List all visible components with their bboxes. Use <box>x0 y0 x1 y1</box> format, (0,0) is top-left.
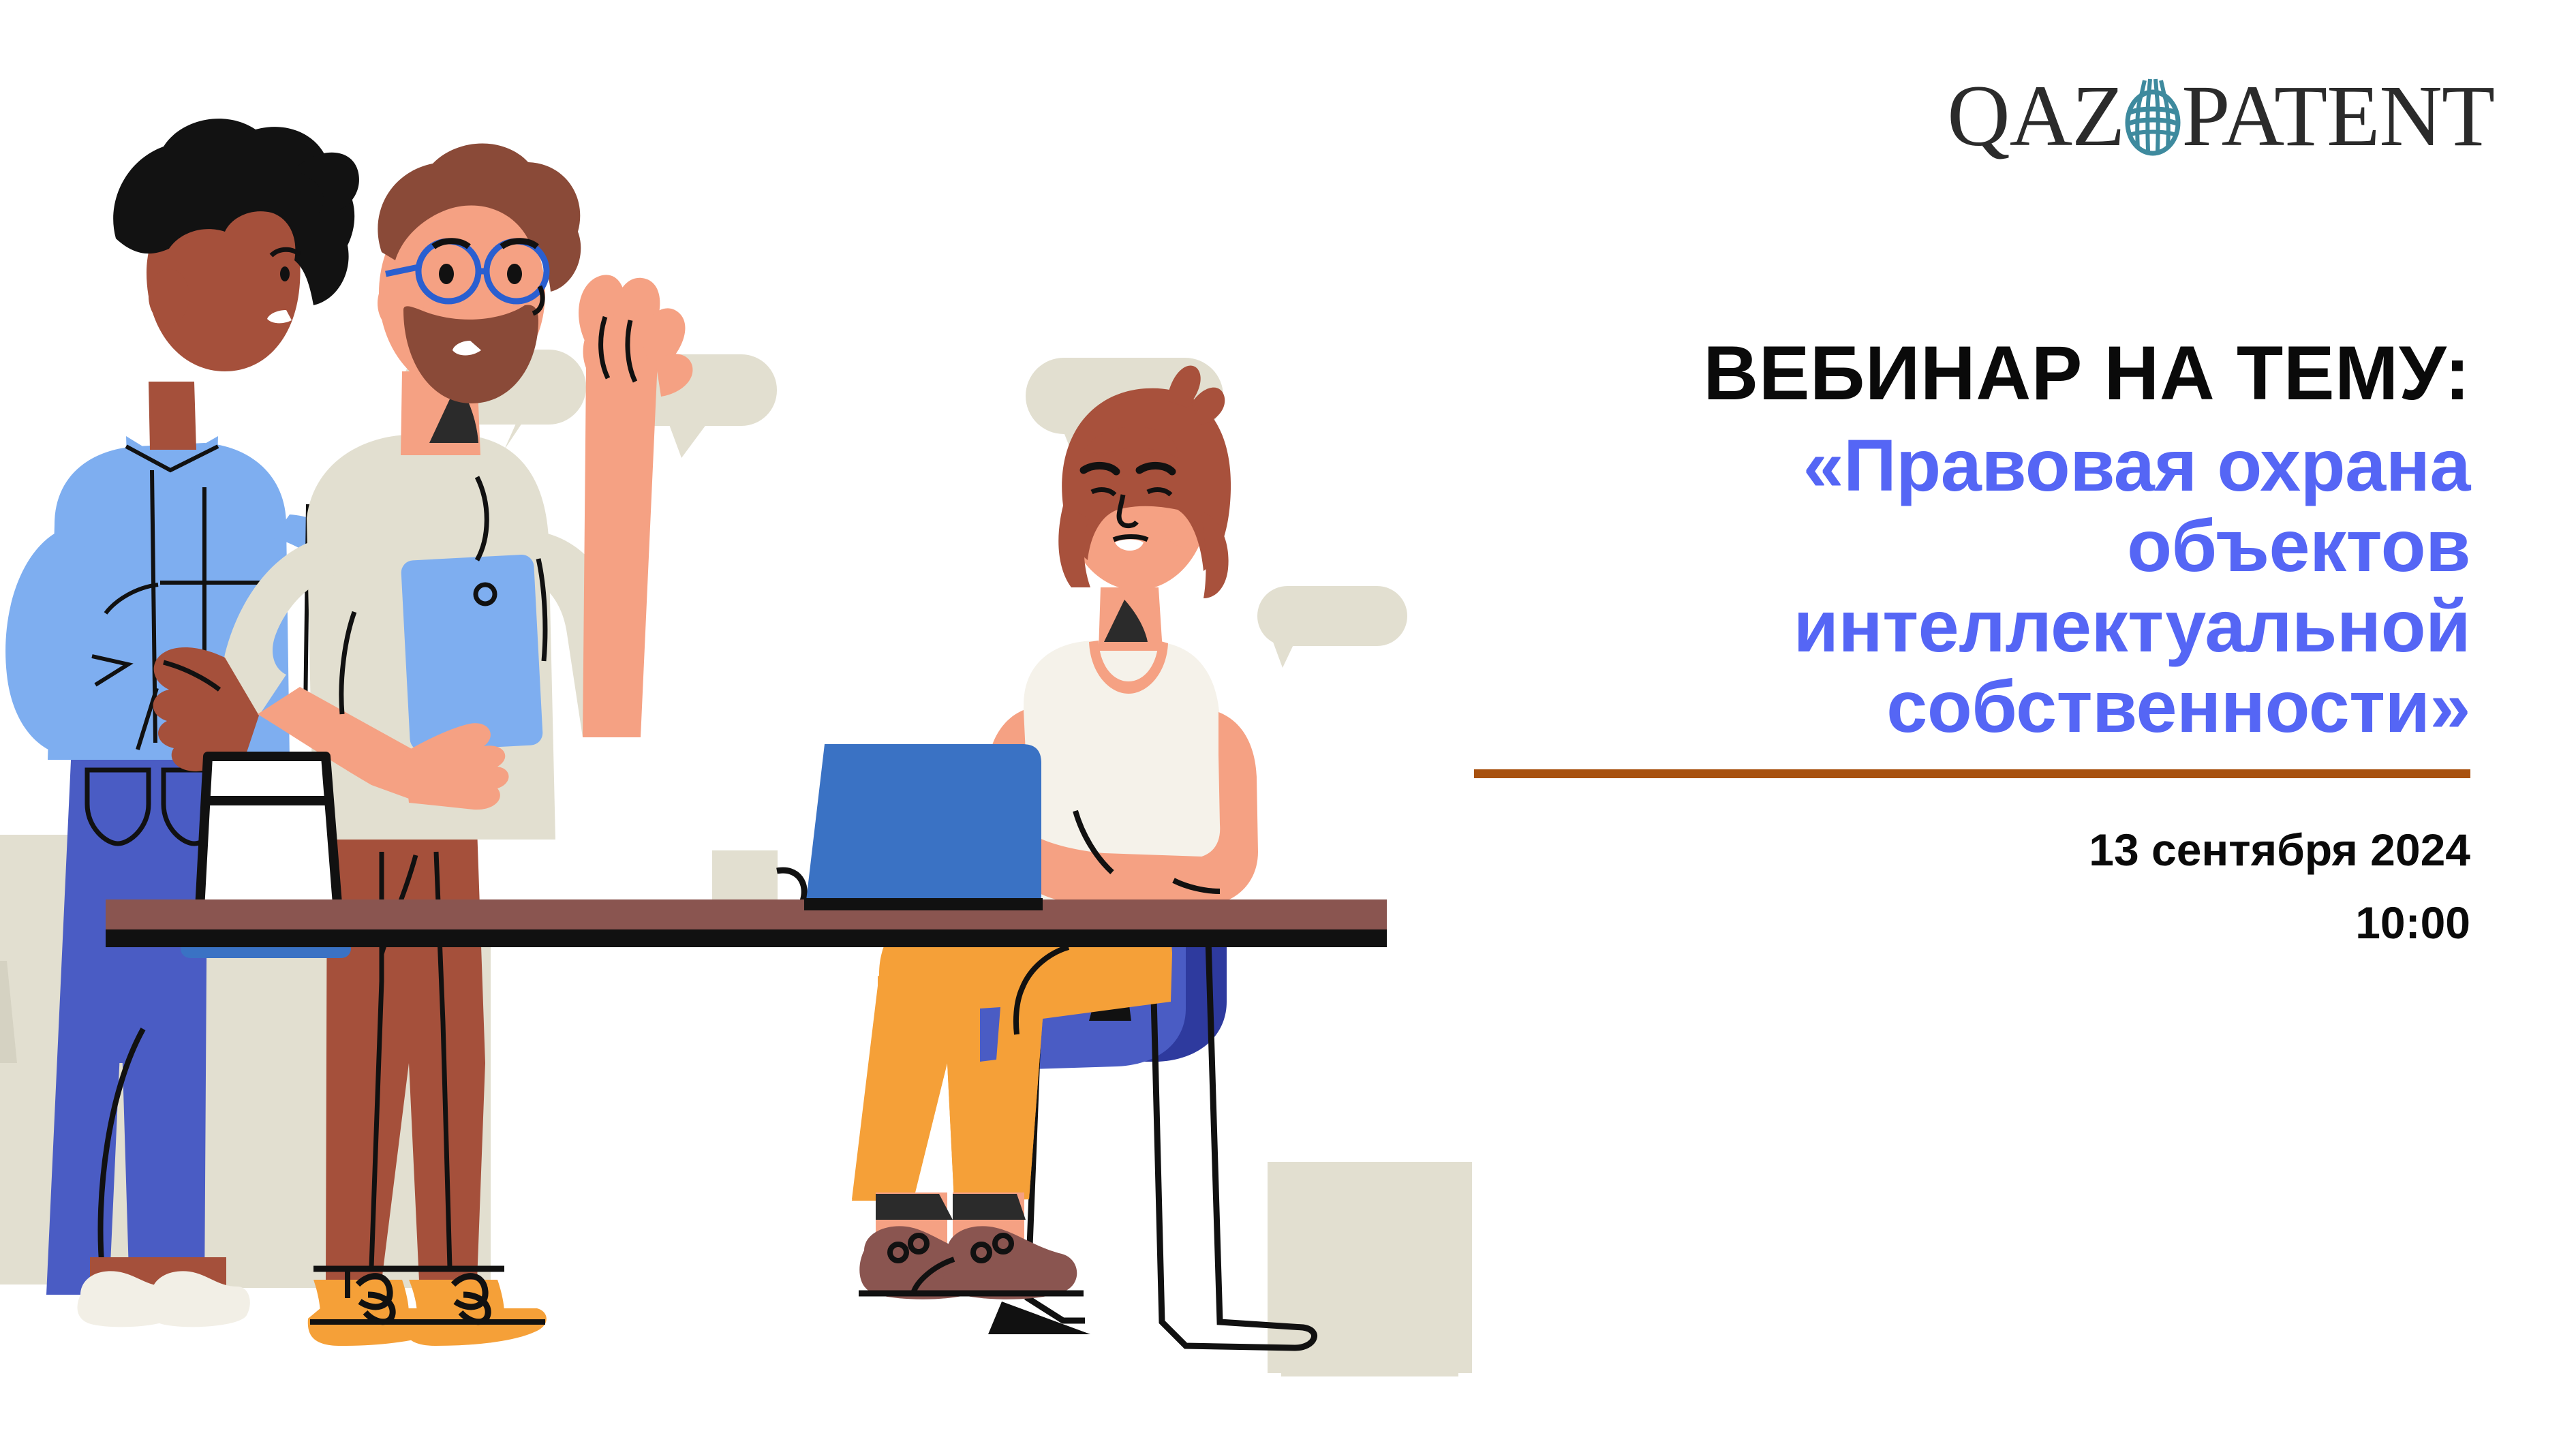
webinar-title-line-2: объектов <box>1462 506 2470 586</box>
speech-bubble-4 <box>1257 586 1407 668</box>
webinar-kicker: ВЕБИНАР НА ТЕМУ: <box>1462 334 2470 413</box>
speech-bubble-group <box>402 350 1407 668</box>
webinar-announcement-poster: QAZ PATENT ВЕБИНАР НА ТЕМУ: «Правовая о <box>0 0 2576 1431</box>
webinar-title: «Правовая охрана объектов интеллектуальн… <box>1462 425 2470 746</box>
shanyrak-emblem-icon <box>2120 75 2186 157</box>
desk-illustration <box>106 899 1387 947</box>
webinar-date: 13 сентября 2024 <box>1462 814 2470 887</box>
webinar-title-line-1: «Правовая охрана <box>1462 425 2470 506</box>
logo-wordmark-right: PATENT <box>2181 72 2494 159</box>
webinar-time: 10:00 <box>1462 887 2470 959</box>
office-team-illustration <box>0 0 1479 1431</box>
logo-wordmark-left: QAZ <box>1947 72 2124 159</box>
horizontal-divider <box>1474 769 2470 778</box>
webinar-title-line-4: собственности» <box>1462 666 2470 747</box>
webinar-title-line-3: интеллектуальной <box>1462 586 2470 666</box>
webinar-datetime: 13 сентября 2024 10:00 <box>1462 814 2470 959</box>
qazpatent-logo: QAZ PATENT <box>1947 75 2494 157</box>
announcement-text-panel: ВЕБИНАР НА ТЕМУ: «Правовая охрана объект… <box>1462 334 2470 959</box>
open-laptop-right-illustration <box>804 744 1043 910</box>
